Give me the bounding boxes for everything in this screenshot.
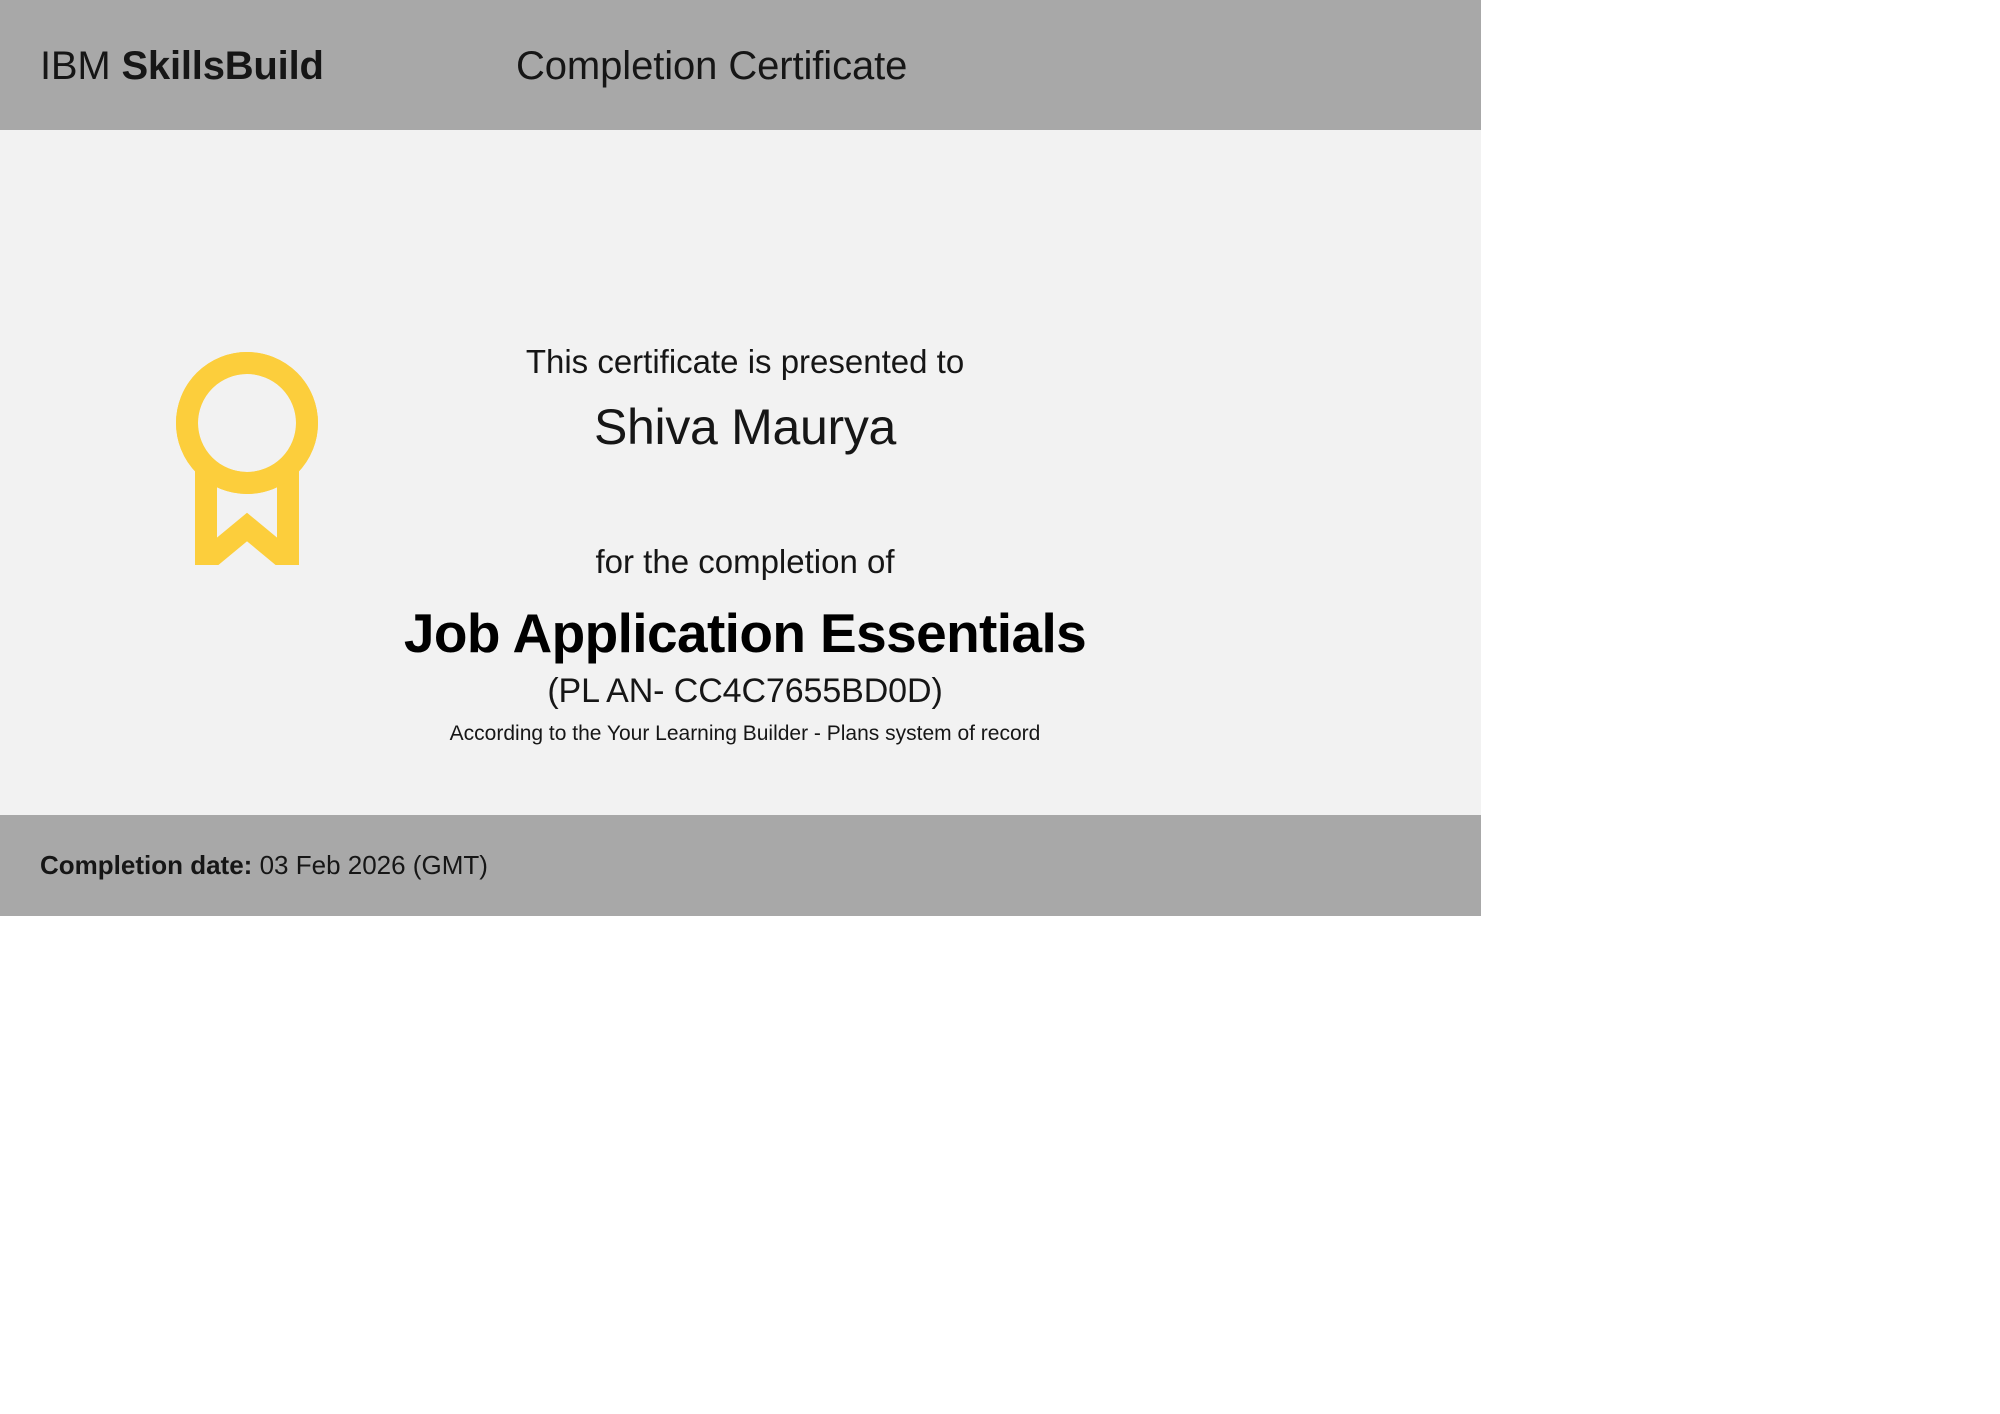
certificate-header-title: Completion Certificate (516, 42, 907, 90)
completion-date-label: Completion date: (40, 850, 252, 880)
award-badge-icon (176, 345, 320, 565)
certificate-footer: Completion date: 03 Feb 2026 (GMT) (0, 815, 1481, 916)
certificate-header: IBM SkillsBuild Completion Certificate (0, 0, 1481, 130)
certificate-content: This certificate is presented to Shiva M… (340, 130, 1150, 748)
certificate-body: This certificate is presented to Shiva M… (0, 130, 1481, 815)
completion-of-label: for the completion of (340, 542, 1150, 582)
completion-date-value: 03 Feb 2026 (GMT) (260, 850, 488, 880)
brand-prefix: IBM (40, 44, 111, 88)
source-of-record-note: According to the Your Learning Builder -… (340, 720, 1150, 748)
course-code: (PL AN- CC4C7655BD0D) (340, 670, 1150, 712)
completion-certificate: IBM SkillsBuild Completion Certificate T… (0, 0, 1481, 916)
ibm-skillsbuild-logo: IBM SkillsBuild (40, 43, 324, 89)
completion-date: Completion date: 03 Feb 2026 (GMT) (40, 848, 488, 882)
course-title: Job Application Essentials (340, 600, 1150, 666)
brand-name: SkillsBuild (121, 44, 323, 88)
presented-to-label: This certificate is presented to (340, 342, 1150, 382)
recipient-name: Shiva Maurya (340, 396, 1150, 458)
